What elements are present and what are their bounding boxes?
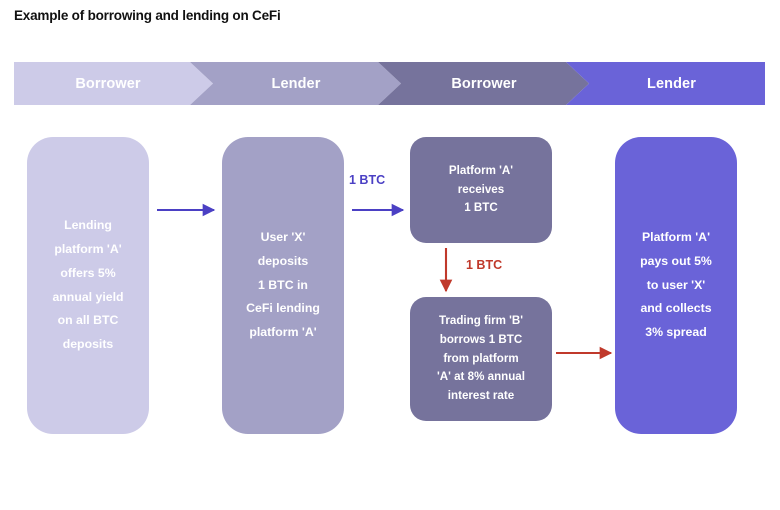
banner-segment-borrower-1: Borrower <box>14 62 202 105</box>
page-title: Example of borrowing and lending on CeFi <box>14 8 281 23</box>
role-banner: Borrower Lender Borrower Lender <box>14 62 765 105</box>
process-box-user-deposits: User 'X' deposits 1 BTC in CeFi lending … <box>222 137 344 434</box>
process-box-platform-pays-out-text: Platform 'A' pays out 5% to user 'X' and… <box>630 226 722 346</box>
process-box-platform-receives: Platform 'A' receives 1 BTC <box>410 137 552 243</box>
process-box-lending-platform: Lending platform 'A' offers 5% annual yi… <box>27 137 149 434</box>
banner-segment-borrower-2: Borrower <box>390 62 578 105</box>
process-box-trading-firm-borrows: Trading firm 'B' borrows 1 BTC from plat… <box>410 297 552 421</box>
banner-segment-1-label: Borrower <box>75 76 140 92</box>
arrow-label-1-btc-blue: 1 BTC <box>349 173 385 187</box>
banner-segment-2-label: Lender <box>272 76 321 92</box>
process-box-user-deposits-text: User 'X' deposits 1 BTC in CeFi lending … <box>236 226 330 346</box>
banner-segment-4-label: Lender <box>647 76 696 92</box>
process-box-platform-receives-text: Platform 'A' receives 1 BTC <box>439 162 523 218</box>
banner-segment-lender-1: Lender <box>202 62 390 105</box>
process-box-lending-platform-text: Lending platform 'A' offers 5% annual yi… <box>42 214 133 358</box>
banner-segment-3-label: Borrower <box>451 76 516 92</box>
arrow-label-1-btc-red: 1 BTC <box>466 258 502 272</box>
banner-segment-lender-2: Lender <box>578 62 765 105</box>
process-box-platform-pays-out: Platform 'A' pays out 5% to user 'X' and… <box>615 137 737 434</box>
diagram-canvas: Example of borrowing and lending on CeFi… <box>0 0 780 510</box>
process-box-trading-firm-borrows-text: Trading firm 'B' borrows 1 BTC from plat… <box>427 312 535 406</box>
